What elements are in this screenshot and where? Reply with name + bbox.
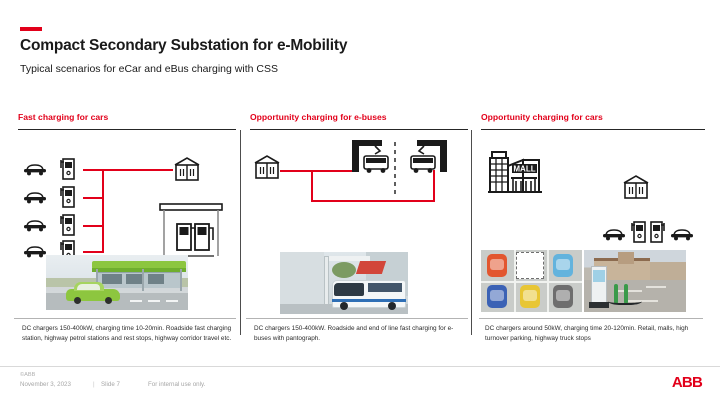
photo-car-service-station [46, 255, 188, 310]
caption-rule-1 [14, 318, 236, 319]
substation-icon [621, 174, 651, 201]
mall-icon: MALL [487, 148, 543, 196]
column-heading-3: Opportunity charging for cars [481, 112, 705, 122]
car-icon [601, 225, 627, 241]
abb-logo: ABB [672, 374, 702, 391]
pantograph-bus-icon [350, 138, 394, 176]
parking-lot-illustration [481, 250, 582, 312]
diagram-fast-charging [18, 130, 236, 265]
red-branch-2 [83, 197, 103, 199]
footer-slide-number: Slide 7 [101, 381, 120, 388]
red-line-to-substation [103, 169, 173, 171]
red-bus-horizontal [311, 200, 435, 202]
retail-charging-station-photo [584, 250, 686, 312]
footer-separator: | [93, 381, 95, 388]
diagram-opportunity-ebuses [250, 130, 468, 265]
caption-rule-2 [246, 318, 468, 319]
column-opportunity-charging-ebuses: Opportunity charging for e-buses [250, 112, 468, 362]
substation-icon [172, 156, 202, 183]
charger-icon [58, 156, 76, 180]
footer-usage-note: For internal use only. [148, 381, 205, 388]
charger-icon [58, 184, 76, 208]
car-icon [22, 216, 48, 232]
photo-ebus-pantograph [280, 252, 408, 314]
page-subtitle: Typical scenarios for eCar and eBus char… [20, 63, 278, 75]
substation-icon [252, 154, 282, 181]
red-bus-drop [311, 170, 313, 202]
photo-parking-lot-and-retail-charger [481, 250, 686, 312]
column-heading-2: Opportunity charging for e-buses [250, 112, 468, 122]
caption-rule-3 [479, 318, 703, 319]
column-fast-charging-cars: Fast charging for cars [18, 112, 236, 362]
charger-icon [58, 212, 76, 236]
caption-3: DC chargers around 50kW, charging time 2… [485, 324, 699, 344]
dashed-divider [394, 142, 396, 196]
column-divider-1 [240, 130, 241, 335]
accent-dash [20, 27, 42, 31]
red-branch-4 [83, 251, 103, 253]
column-opportunity-charging-cars: Opportunity charging for cars MALL [481, 112, 705, 362]
car-icon [22, 188, 48, 204]
slide: Compact Secondary Substation for e-Mobil… [0, 0, 720, 405]
red-branch-3 [83, 225, 103, 227]
page-title: Compact Secondary Substation for e-Mobil… [20, 37, 347, 55]
petrol-canopy-icon [158, 200, 224, 258]
footer-date: November 3, 2023 [20, 381, 71, 388]
red-branch-1 [83, 169, 103, 171]
diagram-opportunity-cars: MALL [481, 130, 705, 265]
footer-rule [0, 366, 720, 367]
column-divider-2 [471, 130, 472, 335]
red-line-from-substation [280, 170, 356, 172]
caption-1: DC chargers 150-400kW, charging time 10-… [22, 324, 234, 344]
column-heading-1: Fast charging for cars [18, 112, 236, 122]
red-bus-line-vertical [102, 169, 104, 253]
car-icon [669, 225, 695, 241]
caption-2: DC chargers 150-400kW. Roadside and end … [254, 324, 466, 344]
footer-copyright: ©ABB [20, 372, 35, 378]
mall-label: MALL [513, 165, 535, 174]
charger-icon [629, 219, 647, 243]
pantograph-bus-icon [405, 138, 449, 176]
car-icon [22, 160, 48, 176]
charger-icon [649, 219, 667, 243]
car-icon [22, 242, 48, 258]
